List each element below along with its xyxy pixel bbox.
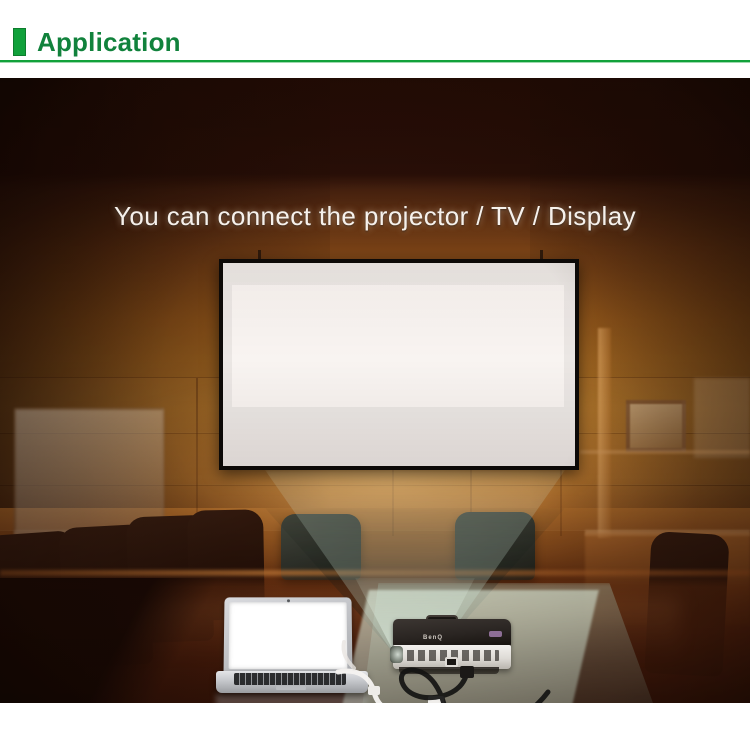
projection-screen — [219, 259, 579, 470]
header-divider-soft — [0, 62, 750, 63]
wall-post — [598, 328, 611, 538]
whiteboard — [14, 408, 164, 534]
shelf-edge — [580, 450, 750, 454]
projector-badge — [489, 631, 502, 637]
black-power-cable — [396, 666, 596, 703]
header-marker-icon — [13, 28, 26, 56]
product-detail-page: Application — [0, 0, 750, 750]
application-photo: BenQ You can connect the projector / TV … — [0, 78, 750, 703]
framed-picture — [626, 400, 686, 452]
photo-headline: You can connect the projector / TV / Dis… — [0, 201, 750, 232]
screen-projected-image — [232, 285, 564, 407]
page-title: Application — [37, 29, 181, 55]
wall-panel-right — [694, 378, 750, 458]
laptop-trackpad — [276, 686, 306, 690]
section-header: Application — [0, 22, 750, 62]
